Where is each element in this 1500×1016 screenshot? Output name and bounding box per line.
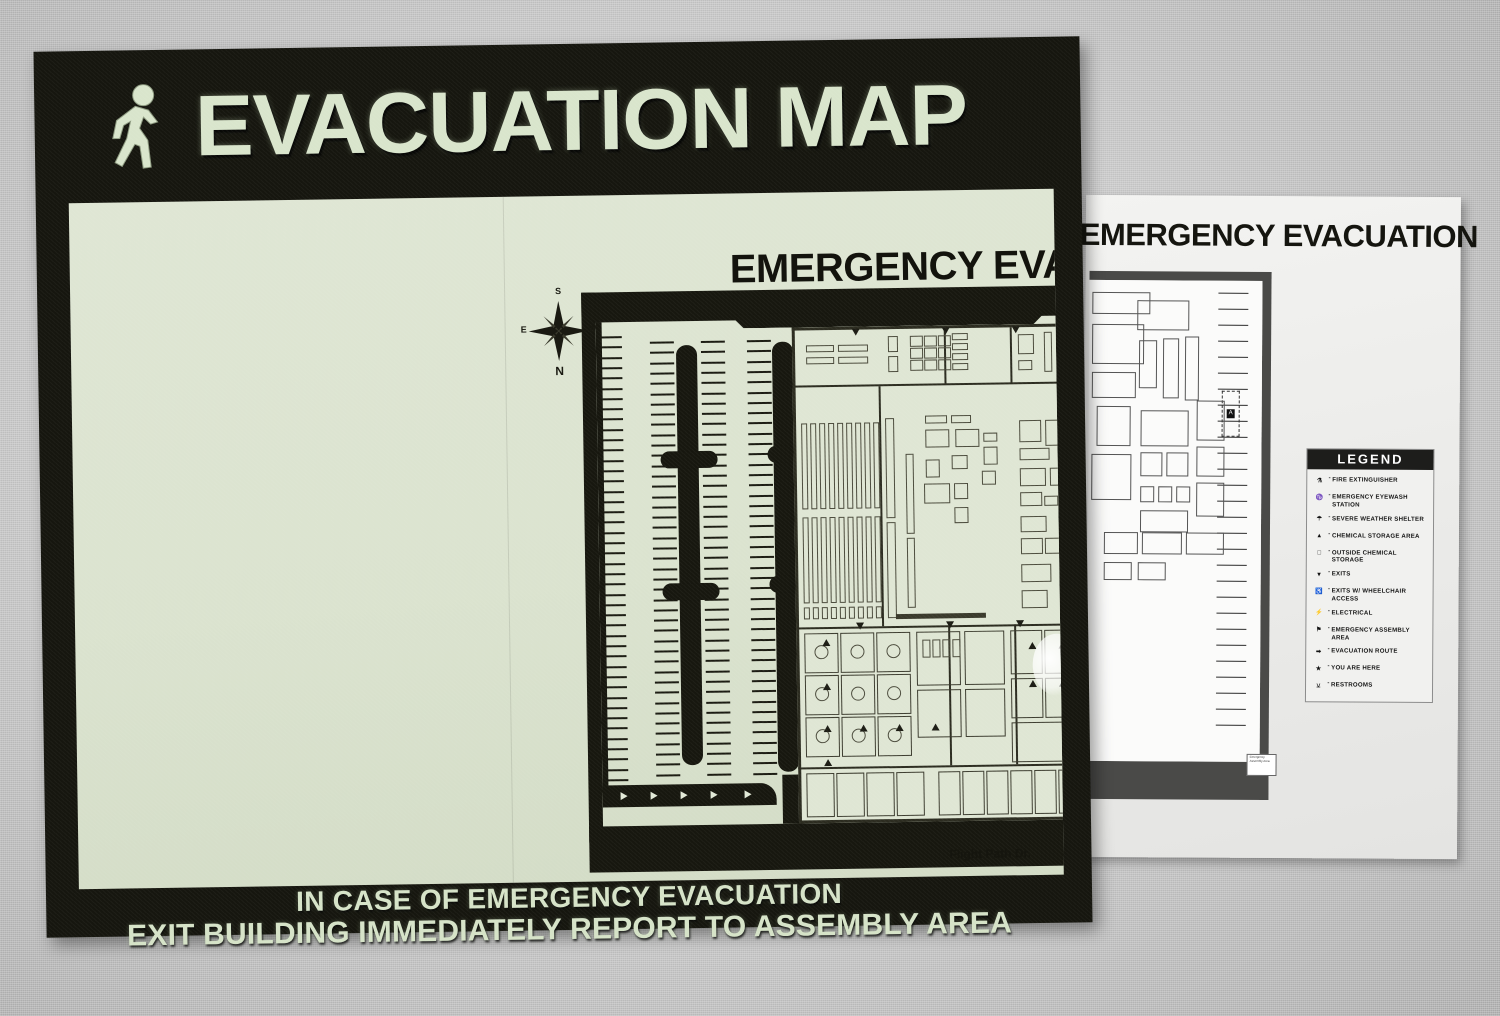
parking-stall <box>652 475 676 477</box>
lab-bench <box>932 639 940 657</box>
parking-stall <box>605 697 627 699</box>
storage-rack <box>829 517 836 603</box>
chem-marker-letter: A <box>1227 409 1235 418</box>
fixture <box>1022 590 1048 608</box>
plan-room <box>1138 562 1166 580</box>
parking-stall <box>1218 389 1248 390</box>
parking-island-crossbar <box>769 576 797 593</box>
parking-stall <box>752 721 776 723</box>
parking-stall <box>1217 597 1247 598</box>
office-fixture <box>838 344 868 351</box>
storage-rack <box>838 517 845 603</box>
legend-item-label: EMERGENCY EYEWASH STATION <box>1332 491 1429 509</box>
storage-rack <box>804 607 810 619</box>
parking-stall <box>752 680 776 682</box>
panel-seam <box>503 197 514 883</box>
parking-stall <box>1218 357 1248 358</box>
lab-bench <box>942 639 950 657</box>
parking-stalls-group <box>1090 280 1263 281</box>
corridor-room <box>1058 769 1064 813</box>
parking-stall <box>605 676 627 678</box>
office-fixture <box>938 359 951 370</box>
parking-stall <box>752 659 776 661</box>
storage-rack <box>907 538 916 608</box>
parking-stall <box>651 393 675 395</box>
storage-rack <box>828 423 835 509</box>
parking-stall <box>1218 373 1248 374</box>
parking-stall <box>601 449 623 451</box>
parking-stall <box>747 371 771 373</box>
parking-stall <box>747 340 771 342</box>
parking-stall <box>750 536 774 538</box>
corridor-room <box>1010 770 1033 814</box>
evacuation-route-arrow <box>824 725 832 732</box>
parking-stall <box>655 712 679 714</box>
parking-stall <box>650 362 674 364</box>
parking-stall <box>704 547 728 549</box>
office-fixture <box>910 348 923 359</box>
paper-evacuation-map-sheet: EMERGENCY EVACUATION A Emergency Assembl… <box>1082 195 1461 859</box>
office-fixture <box>952 333 968 340</box>
site-plan: Flight Path Dr. <box>581 285 1064 872</box>
parking-stall <box>603 521 625 523</box>
office-fixture <box>910 336 923 347</box>
parking-stall <box>606 758 628 760</box>
parking-stall <box>704 577 728 579</box>
parking-stall <box>751 597 775 599</box>
parking-stall <box>603 573 625 575</box>
machine <box>925 415 947 423</box>
parking-stall <box>748 433 772 435</box>
parking-stall <box>601 398 623 400</box>
parking-stall <box>606 769 628 771</box>
office-fixture <box>1018 334 1034 354</box>
parking-stall <box>603 583 625 585</box>
parking-stall <box>652 506 676 508</box>
office-table <box>814 645 828 659</box>
storage-rack <box>849 607 855 619</box>
office-fixture <box>888 356 898 372</box>
storage-rack <box>856 517 863 603</box>
office-fixture <box>806 345 834 352</box>
parking-stall <box>652 486 676 488</box>
machine <box>926 459 940 477</box>
parking-stall <box>750 525 774 527</box>
parking-stall <box>749 515 773 517</box>
parking-stall <box>600 357 622 359</box>
evacuation-route-arrow <box>711 791 718 799</box>
parking-stall <box>600 377 622 379</box>
parking-stall <box>605 717 627 719</box>
parking-stall <box>751 639 775 641</box>
parking-stall <box>748 443 772 445</box>
parking-stall <box>707 773 731 775</box>
plan-room <box>1140 452 1162 476</box>
machine <box>955 429 979 447</box>
parking-stall <box>604 614 626 616</box>
building-wall-interior <box>798 763 1064 769</box>
plan-inner-area: A <box>1087 280 1263 762</box>
plan-room <box>1142 532 1182 554</box>
parking-stall <box>707 753 731 755</box>
parking-stall <box>706 680 730 682</box>
parking-stall <box>752 711 776 713</box>
parking-stall <box>606 748 628 750</box>
plan-room <box>1163 338 1179 398</box>
legend-item: ★-YOU ARE HERE <box>1311 663 1428 677</box>
plan-room <box>1096 406 1130 446</box>
legend-item: □-OUTSIDE CHEMICAL STORAGE <box>1312 547 1429 565</box>
parking-stall <box>751 608 775 610</box>
legend-item: ▲-CHEMICAL STORAGE AREA <box>1312 530 1429 544</box>
legend-item-label: ELECTRICAL <box>1331 607 1372 617</box>
office-fixture <box>938 347 951 358</box>
fixture <box>1020 516 1046 532</box>
parking-stall <box>707 742 731 744</box>
legend-item: ➡-EVACUATION ROUTE <box>1311 646 1428 660</box>
parking-stall <box>650 341 674 343</box>
storage-rack <box>822 607 828 619</box>
legend-item-label: CHEMICAL STORAGE AREA <box>1332 530 1420 540</box>
machine <box>954 507 968 523</box>
legend-item: ♿-EXITS W/ WHEELCHAIR ACCESS <box>1312 585 1429 603</box>
parking-stall <box>702 402 726 404</box>
parking-stall <box>749 505 773 507</box>
storage-rack <box>819 423 826 509</box>
conveyor-line <box>896 613 986 619</box>
parking-stall <box>601 418 623 420</box>
legend-item-label: EXITS <box>1332 569 1351 579</box>
corridor-room <box>1034 770 1057 814</box>
parking-stall <box>748 422 772 424</box>
parking-stall <box>656 764 680 766</box>
storage-rack <box>831 607 837 619</box>
parking-stall <box>706 691 730 693</box>
corridor-room <box>962 771 985 815</box>
parking-stall <box>747 350 771 352</box>
fixture <box>1019 420 1041 442</box>
plan-room <box>1104 562 1132 580</box>
parking-stall <box>705 650 729 652</box>
compass-label-right: W <box>588 323 597 333</box>
paper-sheet-floor-plan: A Emergency Assembly Area <box>1086 271 1285 802</box>
lab-room <box>917 689 962 738</box>
exit-icon <box>946 621 954 628</box>
parking-stall <box>1218 293 1248 294</box>
parking-stall <box>602 460 624 462</box>
parking-island-crossbar <box>662 583 719 601</box>
parking-stall <box>1216 613 1246 614</box>
parking-stall <box>702 433 726 435</box>
parking-stall <box>656 733 680 735</box>
parking-stall <box>752 700 776 702</box>
parking-stall <box>602 511 624 513</box>
parking-stall <box>603 532 625 534</box>
corridor-room <box>896 772 925 816</box>
storage-rack <box>811 517 818 603</box>
office-fixture <box>952 353 968 360</box>
storage-rack <box>906 454 915 534</box>
parking-stall <box>748 402 772 404</box>
legend-item-label: EVACUATION ROUTE <box>1331 646 1397 656</box>
legend-item-label: FIRE EXTINGUISHER <box>1332 474 1398 484</box>
parking-stall <box>604 645 626 647</box>
exit-icon <box>942 327 950 334</box>
parking-stall <box>753 752 777 754</box>
parking-stall <box>604 635 626 637</box>
parking-stall <box>703 505 727 507</box>
legend-title: LEGEND <box>1307 449 1433 470</box>
plan-room <box>1185 336 1199 400</box>
office-fixture <box>952 343 968 350</box>
parking-stall <box>703 474 727 476</box>
building-wall-interior <box>1010 327 1013 383</box>
parking-stall <box>753 742 777 744</box>
legend-item-label: YOU ARE HERE <box>1331 663 1380 673</box>
parking-stall <box>750 546 774 548</box>
parking-stall <box>601 408 623 410</box>
parking-stall <box>652 496 676 498</box>
site-plan-canvas <box>596 315 1064 826</box>
storage-rack <box>847 517 854 603</box>
building-wall-top <box>792 323 1064 330</box>
office-fixture <box>952 363 968 370</box>
parking-stall <box>747 360 771 362</box>
plan-room <box>1104 532 1138 554</box>
paper-sheet-heading: EMERGENCY EVACUATION <box>1080 217 1478 255</box>
parking-stall <box>602 501 624 503</box>
map-heading: EMERGENCY EVACUATION <box>729 240 1063 293</box>
corridor-room <box>836 773 865 817</box>
parking-stall <box>750 566 774 568</box>
parking-stall <box>601 439 623 441</box>
legend-item-label: SEVERE WEATHER SHELTER <box>1332 513 1424 523</box>
parking-stall <box>749 494 773 496</box>
plan-room <box>1091 454 1131 500</box>
storage-rack <box>867 606 873 618</box>
parking-stall <box>753 731 777 733</box>
parking-stall <box>604 604 626 606</box>
parking-stall <box>706 660 730 662</box>
evacuation-route-arrow <box>824 759 832 766</box>
machine <box>952 455 968 469</box>
chemical-storage-area-icon: ▲ <box>1312 530 1327 543</box>
parking-stall <box>705 639 729 641</box>
storage-rack <box>813 607 819 619</box>
parking-stall <box>605 707 627 709</box>
parking-stall <box>601 388 623 390</box>
corridor-room <box>866 772 895 816</box>
fixture <box>1044 496 1058 506</box>
parking-stall <box>604 624 626 626</box>
parking-stall <box>1217 517 1247 518</box>
compass-label-bottom: N <box>555 364 564 378</box>
parking-stall <box>704 567 728 569</box>
storage-rack <box>858 607 864 619</box>
evacuation-route-arrow <box>681 791 688 799</box>
parking-stall <box>706 711 730 713</box>
parking-stall <box>651 413 675 415</box>
parking-stall <box>753 762 777 764</box>
fixture <box>1020 468 1046 486</box>
parking-stall <box>706 670 730 672</box>
restrooms-icon: ⚺ <box>1311 680 1326 693</box>
exit-icon <box>1016 620 1024 627</box>
parking-stall <box>602 491 624 493</box>
building-wall-interior <box>793 381 1064 387</box>
electrical-icon: ⚡ <box>1311 607 1326 620</box>
storage-rack <box>820 517 827 603</box>
parking-stall <box>1216 693 1246 694</box>
parking-stall <box>600 346 622 348</box>
evacuation-route-arrow <box>621 792 628 800</box>
storage-rack <box>846 423 853 509</box>
corridor-room <box>806 773 835 817</box>
machine <box>983 433 997 442</box>
legend-item: ♑-EMERGENCY EYEWASH STATION <box>1312 491 1429 509</box>
parking-stall <box>748 391 772 393</box>
compass-label-top: S <box>555 286 561 296</box>
fixture <box>1045 538 1061 554</box>
parking-stall <box>653 568 677 570</box>
machine <box>982 471 996 485</box>
office-fixture <box>1018 360 1032 370</box>
storage-rack <box>855 423 862 509</box>
evacuation-route-icon: ➡ <box>1311 646 1326 659</box>
office-fixture <box>938 335 951 346</box>
parking-stall <box>603 552 625 554</box>
parking-stall <box>653 527 677 529</box>
parking-stall <box>650 352 674 354</box>
plan-room <box>1140 410 1188 446</box>
parking-stall <box>749 474 773 476</box>
parking-stall <box>703 516 727 518</box>
parking-island-crossbar <box>660 451 717 469</box>
storage-rack <box>837 423 844 509</box>
parking-stall <box>653 578 677 580</box>
parking-stall <box>705 619 729 621</box>
parking-stall <box>655 681 679 683</box>
machine <box>951 415 971 423</box>
parking-stall <box>1216 629 1246 630</box>
parking-stall <box>656 743 680 745</box>
machine <box>983 447 997 465</box>
wheelchair-exit-icon: ♿ <box>1312 585 1327 598</box>
parking-stall <box>651 434 675 436</box>
parking-stall <box>707 722 731 724</box>
fixture <box>1045 420 1063 446</box>
parking-stall <box>702 444 726 446</box>
parking-stall <box>703 485 727 487</box>
office-fixture <box>924 359 937 370</box>
parking-stall <box>701 371 725 373</box>
parking-island <box>676 345 703 765</box>
parking-stall <box>654 619 678 621</box>
parking-stall <box>655 702 679 704</box>
office-room <box>1012 721 1064 762</box>
legend-panel: LEGEND ⚗-FIRE EXTINGUISHER♑-EMERGENCY EY… <box>1305 448 1435 703</box>
plan-room <box>1166 452 1188 476</box>
exit-icon <box>1012 326 1020 333</box>
parking-stall <box>1216 661 1246 662</box>
parking-stall <box>656 753 680 755</box>
exit-icon: ▼ <box>1312 568 1327 581</box>
legend-item: ▼-EXITS <box>1312 568 1429 582</box>
compass-rose: S E W N <box>522 288 595 375</box>
fixture <box>1019 448 1049 460</box>
storage-rack <box>802 517 809 603</box>
parking-stall <box>701 361 725 363</box>
parking-stall <box>653 537 677 539</box>
parking-stall <box>701 341 725 343</box>
parking-stall <box>600 336 622 338</box>
plan-room <box>1158 486 1172 502</box>
parking-stall <box>602 480 624 482</box>
exit-icon <box>852 329 860 336</box>
plan-room <box>1186 532 1224 554</box>
severe-weather-shelter-icon: ☂ <box>1312 513 1327 526</box>
parking-stall <box>1216 677 1246 678</box>
storage-rack <box>864 422 871 508</box>
parking-stall <box>751 628 775 630</box>
parking-stall <box>603 542 625 544</box>
office-fixture <box>910 360 923 371</box>
parking-stall <box>1216 645 1246 646</box>
parking-stall <box>602 470 624 472</box>
fixture <box>1021 538 1043 554</box>
parking-stall <box>650 372 674 374</box>
parking-stall <box>605 686 627 688</box>
building-floor-plan <box>792 323 1064 823</box>
fixture <box>1050 468 1064 486</box>
compass-label-left: E <box>521 325 527 335</box>
parking-stall <box>603 563 625 565</box>
parking-stall <box>653 558 677 560</box>
parking-stall <box>1216 709 1246 710</box>
parking-stall <box>656 722 680 724</box>
glow-in-dark-panel: EMERGENCY EVACUATION S E W N <box>69 189 1064 890</box>
plan-room <box>1197 401 1225 441</box>
assembly-area-tag: Emergency Assembly Area <box>1246 754 1276 776</box>
parking-stall <box>604 594 626 596</box>
storage-rack <box>840 607 846 619</box>
parking-stall <box>1218 325 1248 326</box>
parking-stall <box>654 630 678 632</box>
parking-island-crossbar <box>767 446 795 463</box>
parking-stall <box>654 640 678 642</box>
plan-room <box>1139 340 1157 388</box>
parking-stall <box>751 618 775 620</box>
parking-stall <box>605 666 627 668</box>
parking-stall <box>749 484 773 486</box>
parking-stall <box>751 649 775 651</box>
plan-room <box>1196 483 1224 517</box>
eyewash-station-icon: ♑ <box>1312 491 1327 504</box>
parking-stall <box>1217 565 1247 566</box>
parking-stall <box>651 444 675 446</box>
parking-stall <box>704 557 728 559</box>
plan-room <box>1176 486 1190 502</box>
legend-item-label: OUTSIDE CHEMICAL STORAGE <box>1332 547 1429 565</box>
parking-stall <box>1216 725 1246 726</box>
parking-stall <box>654 650 678 652</box>
parking-stall <box>748 412 772 414</box>
storage-rack <box>873 422 880 508</box>
evacuation-route-arrow <box>932 723 940 730</box>
parking-stall <box>752 690 776 692</box>
machine <box>924 483 950 503</box>
parking-stall <box>654 609 678 611</box>
